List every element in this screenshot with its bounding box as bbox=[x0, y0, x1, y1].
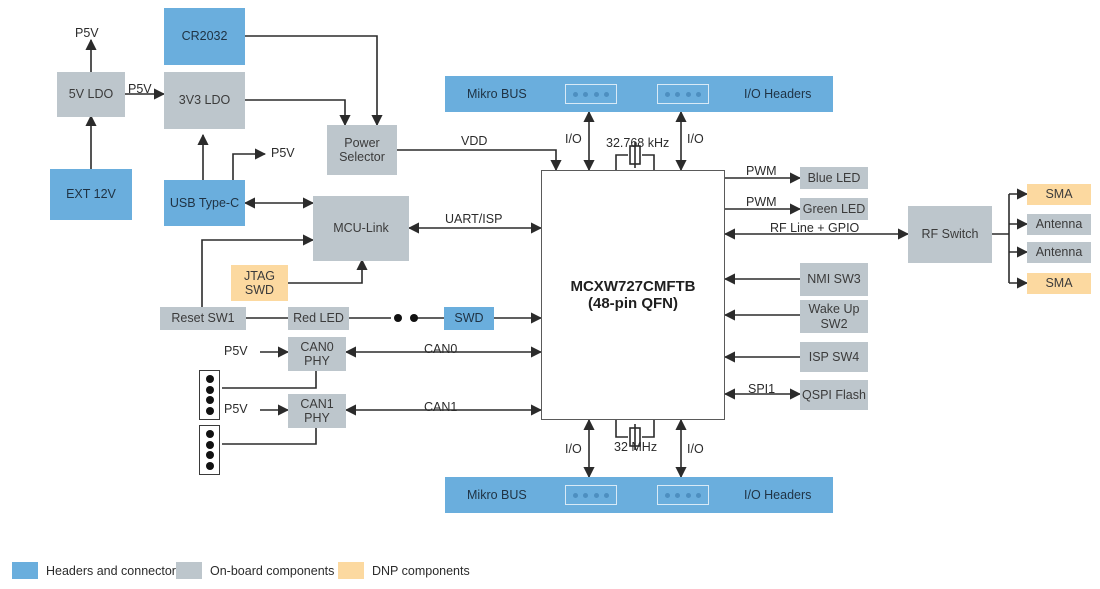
mcu-package: (48-pin QFN) bbox=[588, 295, 678, 312]
signal-label-p5v-can1: P5V bbox=[224, 402, 248, 416]
bus-top-connector-1[interactable] bbox=[565, 84, 617, 104]
connector-pin bbox=[583, 92, 588, 97]
header-pin bbox=[206, 430, 214, 438]
bus-top-left-label: Mikro BUS bbox=[467, 87, 527, 101]
block-swd[interactable]: SWD bbox=[444, 307, 494, 330]
signal-label-pwm-green: PWM bbox=[746, 195, 777, 209]
block-wakeup-sw2[interactable]: Wake UpSW2 bbox=[800, 300, 868, 333]
block-blue-led[interactable]: Blue LED bbox=[800, 167, 868, 189]
legend-item-onboard: On-board components bbox=[176, 562, 334, 579]
block-sma-bottom[interactable]: SMA bbox=[1027, 273, 1091, 294]
connector-pin bbox=[583, 493, 588, 498]
block-antenna-2[interactable]: Antenna bbox=[1027, 242, 1091, 263]
block-isp-sw4[interactable]: ISP SW4 bbox=[800, 342, 868, 372]
block-reset-sw1[interactable]: Reset SW1 bbox=[160, 307, 246, 330]
block-label: NMI SW3 bbox=[807, 272, 860, 286]
block-label: Reset SW1 bbox=[171, 311, 234, 325]
bus-top-right-label: I/O Headers bbox=[744, 87, 811, 101]
signal-label-io-bottom-left: I/O bbox=[565, 442, 582, 456]
bus-bottom-right-label: I/O Headers bbox=[744, 488, 811, 502]
connector-pin bbox=[696, 92, 701, 97]
connector-pin bbox=[573, 92, 578, 97]
legend-swatch-headers bbox=[12, 562, 38, 579]
connector-pin bbox=[665, 493, 670, 498]
block-label: Antenna bbox=[1036, 245, 1083, 259]
signal-label-p5v-usb: P5V bbox=[271, 146, 295, 160]
signal-label-rf-line-gpio: RF Line + GPIO bbox=[770, 221, 859, 235]
connector-pin bbox=[573, 493, 578, 498]
block-rf-switch[interactable]: RF Switch bbox=[908, 206, 992, 263]
block-mcu[interactable]: MCXW727CMFTB (48-pin QFN) bbox=[541, 170, 725, 420]
block-label: CR2032 bbox=[182, 29, 228, 43]
block-3v3-ldo[interactable]: 3V3 LDO bbox=[164, 72, 245, 129]
pin-header-can0[interactable] bbox=[199, 370, 220, 420]
block-label: SMA bbox=[1045, 187, 1072, 201]
bus-top-connector-2[interactable] bbox=[657, 84, 709, 104]
header-pin bbox=[206, 396, 214, 404]
bus-bottom-left-label: Mikro BUS bbox=[467, 488, 527, 502]
connector-pin bbox=[675, 92, 680, 97]
block-label: JTAGSWD bbox=[244, 269, 275, 298]
connector-pin bbox=[594, 493, 599, 498]
block-label: EXT 12V bbox=[66, 187, 116, 201]
block-5v-ldo[interactable]: 5V LDO bbox=[57, 72, 125, 117]
junction-dot bbox=[394, 314, 402, 322]
block-mcu-link[interactable]: MCU-Link bbox=[313, 196, 409, 261]
legend-item-headers: Headers and connectors bbox=[12, 562, 182, 579]
block-label: PowerSelector bbox=[339, 136, 385, 165]
legend-label-dnp: DNP components bbox=[372, 564, 470, 578]
header-pin bbox=[206, 407, 214, 415]
block-cr2032[interactable]: CR2032 bbox=[164, 8, 245, 65]
signal-label-io-bottom-right: I/O bbox=[687, 442, 704, 456]
block-label: USB Type-C bbox=[170, 196, 239, 210]
block-label: CAN1PHY bbox=[300, 397, 333, 426]
legend-label-headers: Headers and connectors bbox=[46, 564, 182, 578]
block-label: Wake UpSW2 bbox=[809, 302, 860, 331]
legend-swatch-dnp bbox=[338, 562, 364, 579]
signal-label-p5v-can0: P5V bbox=[224, 344, 248, 358]
connector-pin bbox=[604, 493, 609, 498]
connector-pin bbox=[675, 493, 680, 498]
block-label: Green LED bbox=[803, 202, 866, 216]
block-red-led[interactable]: Red LED bbox=[288, 307, 349, 330]
connector-pin bbox=[696, 493, 701, 498]
block-qspi-flash[interactable]: QSPI Flash bbox=[800, 380, 868, 410]
block-label: CAN0PHY bbox=[300, 340, 333, 369]
block-diagram-canvas: CR2032 5V LDO 3V3 LDO EXT 12V USB Type-C… bbox=[0, 0, 1100, 589]
block-label: SWD bbox=[454, 311, 483, 325]
connector-pin bbox=[594, 92, 599, 97]
bus-bar-top[interactable]: Mikro BUS I/O Headers bbox=[445, 76, 833, 112]
block-can1-phy[interactable]: CAN1PHY bbox=[288, 394, 346, 428]
block-label: 5V LDO bbox=[69, 87, 113, 101]
signal-label-io-top-left: I/O bbox=[565, 132, 582, 146]
block-green-led[interactable]: Green LED bbox=[800, 198, 868, 220]
header-pin bbox=[206, 375, 214, 383]
block-nmi-sw3[interactable]: NMI SW3 bbox=[800, 263, 868, 296]
bus-bottom-connector-1[interactable] bbox=[565, 485, 617, 505]
block-label: RF Switch bbox=[922, 227, 979, 241]
block-label: SMA bbox=[1045, 276, 1072, 290]
signal-label-can1: CAN1 bbox=[424, 400, 457, 414]
block-ext-12v[interactable]: EXT 12V bbox=[50, 169, 132, 220]
signal-label-io-top-right: I/O bbox=[687, 132, 704, 146]
connector-pin bbox=[686, 493, 691, 498]
signal-label-spi1: SPI1 bbox=[748, 382, 775, 396]
legend-swatch-onboard bbox=[176, 562, 202, 579]
signal-label-xtal-32mhz: 32 MHz bbox=[614, 440, 657, 454]
block-can0-phy[interactable]: CAN0PHY bbox=[288, 337, 346, 371]
mcu-part-number: MCXW727CMFTB bbox=[570, 278, 695, 295]
header-pin bbox=[206, 441, 214, 449]
legend-label-onboard: On-board components bbox=[210, 564, 334, 578]
block-label: ISP SW4 bbox=[809, 350, 859, 364]
block-jtag-swd[interactable]: JTAGSWD bbox=[231, 265, 288, 301]
header-pin bbox=[206, 386, 214, 394]
header-pin bbox=[206, 451, 214, 459]
signal-label-p5v-top: P5V bbox=[75, 26, 99, 40]
block-label: Antenna bbox=[1036, 217, 1083, 231]
block-antenna-1[interactable]: Antenna bbox=[1027, 214, 1091, 235]
block-label: Red LED bbox=[293, 311, 344, 325]
block-usb-type-c[interactable]: USB Type-C bbox=[164, 180, 245, 226]
pin-header-can1[interactable] bbox=[199, 425, 220, 475]
signal-label-p5v-ldo: P5V bbox=[128, 82, 152, 96]
signal-label-vdd: VDD bbox=[461, 134, 487, 148]
connector-pin bbox=[686, 92, 691, 97]
block-label: QSPI Flash bbox=[802, 388, 866, 402]
bus-bottom-connector-2[interactable] bbox=[657, 485, 709, 505]
signal-label-uart-isp: UART/ISP bbox=[445, 212, 502, 226]
signal-label-can0: CAN0 bbox=[424, 342, 457, 356]
block-sma-top[interactable]: SMA bbox=[1027, 184, 1091, 205]
block-power-selector[interactable]: PowerSelector bbox=[327, 125, 397, 175]
junction-dot bbox=[410, 314, 418, 322]
connector-pin bbox=[604, 92, 609, 97]
header-pin bbox=[206, 462, 214, 470]
block-label: 3V3 LDO bbox=[179, 93, 230, 107]
signal-label-xtal-32768khz: 32.768 kHz bbox=[606, 136, 669, 150]
signal-label-pwm-blue: PWM bbox=[746, 164, 777, 178]
connector-pin bbox=[665, 92, 670, 97]
legend-item-dnp: DNP components bbox=[338, 562, 470, 579]
block-label: MCU-Link bbox=[333, 221, 389, 235]
block-label: Blue LED bbox=[808, 171, 861, 185]
bus-bar-bottom[interactable]: Mikro BUS I/O Headers bbox=[445, 477, 833, 513]
